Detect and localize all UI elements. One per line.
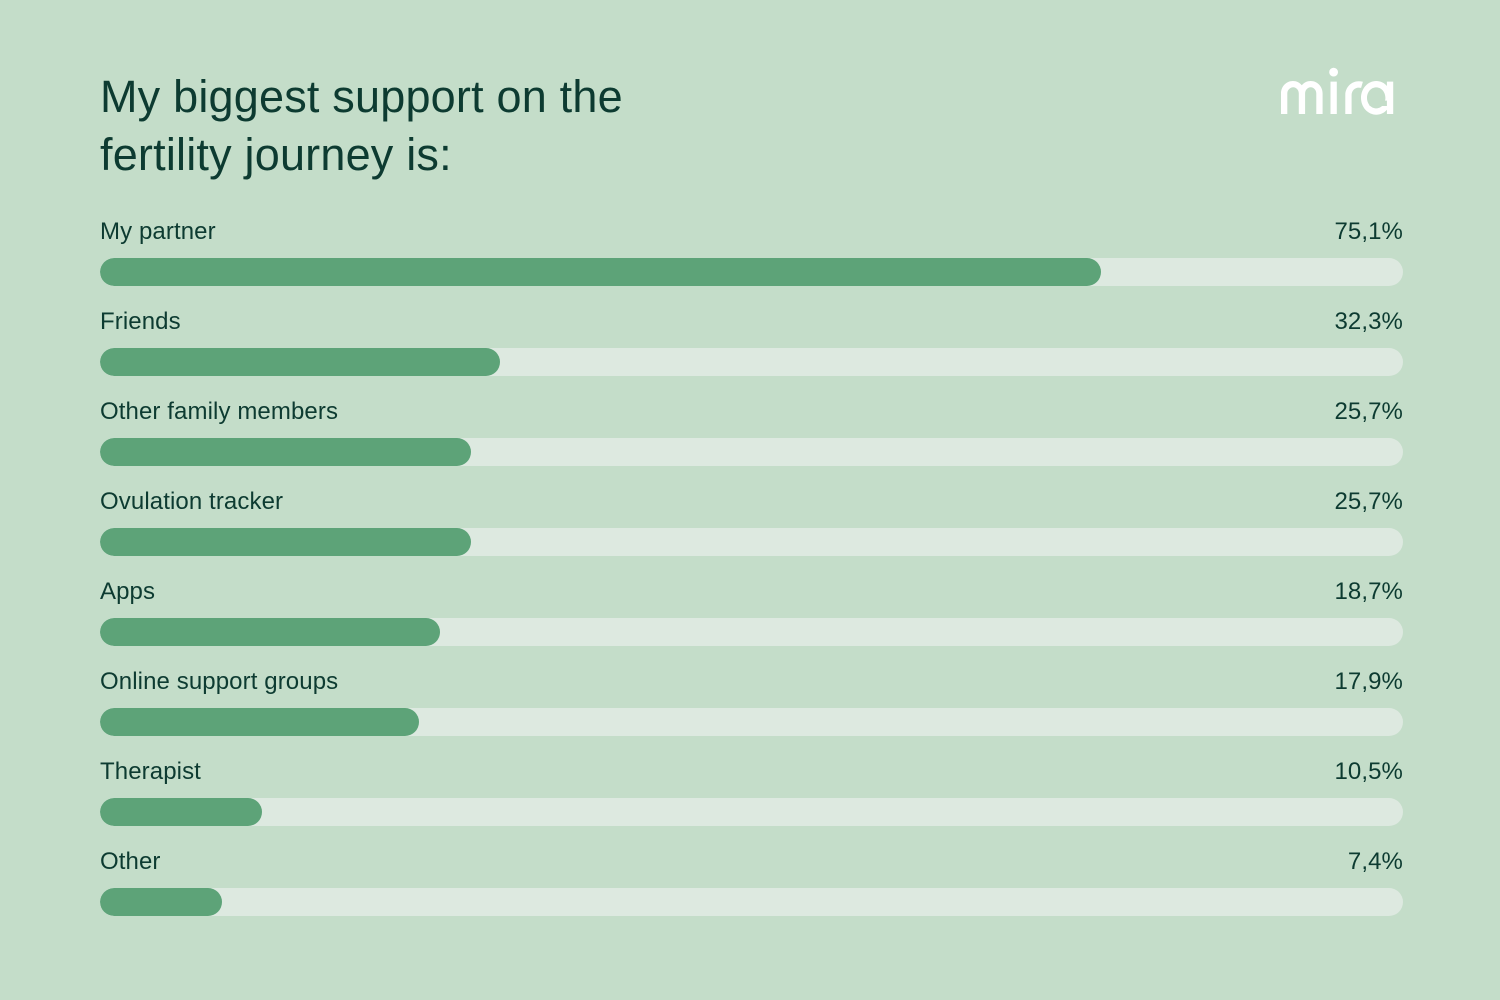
bar-fill bbox=[100, 798, 262, 826]
chart-row: Ovulation tracker 25,7% bbox=[0, 475, 1500, 565]
bar-track bbox=[100, 258, 1403, 286]
chart-row: Therapist 10,5% bbox=[0, 745, 1500, 835]
chart-row: Other 7,4% bbox=[0, 835, 1500, 925]
bar-value: 32,3% bbox=[1334, 307, 1403, 337]
row-header: Friends 32,3% bbox=[100, 307, 1403, 337]
bar-label: Apps bbox=[100, 577, 155, 607]
bar-value: 75,1% bbox=[1334, 217, 1403, 247]
row-header: Online support groups 17,9% bbox=[100, 667, 1403, 697]
bar-label: Online support groups bbox=[100, 667, 338, 697]
row-header: My partner 75,1% bbox=[100, 217, 1403, 247]
bar-label: Therapist bbox=[100, 757, 201, 787]
header: My biggest support on the fertility jour… bbox=[0, 0, 1500, 205]
bar-label: Other bbox=[100, 847, 161, 877]
chart-row: Online support groups 17,9% bbox=[0, 655, 1500, 745]
mira-logo bbox=[1281, 67, 1403, 115]
bar-track bbox=[100, 708, 1403, 736]
row-header: Therapist 10,5% bbox=[100, 757, 1403, 787]
bar-fill bbox=[100, 888, 222, 916]
bar-fill bbox=[100, 528, 471, 556]
bar-value: 10,5% bbox=[1334, 757, 1403, 787]
row-header: Apps 18,7% bbox=[100, 577, 1403, 607]
bar-label: My partner bbox=[100, 217, 216, 247]
bar-fill bbox=[100, 348, 500, 376]
bar-fill bbox=[100, 708, 419, 736]
bar-fill bbox=[100, 618, 440, 646]
bar-track bbox=[100, 888, 1403, 916]
bar-fill bbox=[100, 258, 1101, 286]
bar-value: 25,7% bbox=[1334, 397, 1403, 427]
bar-chart: My partner 75,1% Friends 32,3% Other fam… bbox=[0, 205, 1500, 1000]
bar-label: Friends bbox=[100, 307, 181, 337]
bar-value: 18,7% bbox=[1334, 577, 1403, 607]
chart-row: Apps 18,7% bbox=[0, 565, 1500, 655]
bar-track bbox=[100, 798, 1403, 826]
bar-track bbox=[100, 618, 1403, 646]
bar-value: 7,4% bbox=[1348, 847, 1403, 877]
chart-row: Other family members 25,7% bbox=[0, 385, 1500, 475]
bar-track bbox=[100, 528, 1403, 556]
bar-label: Other family members bbox=[100, 397, 338, 427]
infographic-page: My biggest support on the fertility jour… bbox=[0, 0, 1500, 1000]
row-header: Other 7,4% bbox=[100, 847, 1403, 877]
bar-fill bbox=[100, 438, 471, 466]
chart-row: My partner 75,1% bbox=[0, 205, 1500, 295]
row-header: Ovulation tracker 25,7% bbox=[100, 487, 1403, 517]
bar-value: 17,9% bbox=[1334, 667, 1403, 697]
bar-track bbox=[100, 348, 1403, 376]
chart-row: Friends 32,3% bbox=[0, 295, 1500, 385]
page-title: My biggest support on the fertility jour… bbox=[100, 68, 880, 184]
row-header: Other family members 25,7% bbox=[100, 397, 1403, 427]
bar-value: 25,7% bbox=[1334, 487, 1403, 517]
bar-label: Ovulation tracker bbox=[100, 487, 283, 517]
bar-track bbox=[100, 438, 1403, 466]
